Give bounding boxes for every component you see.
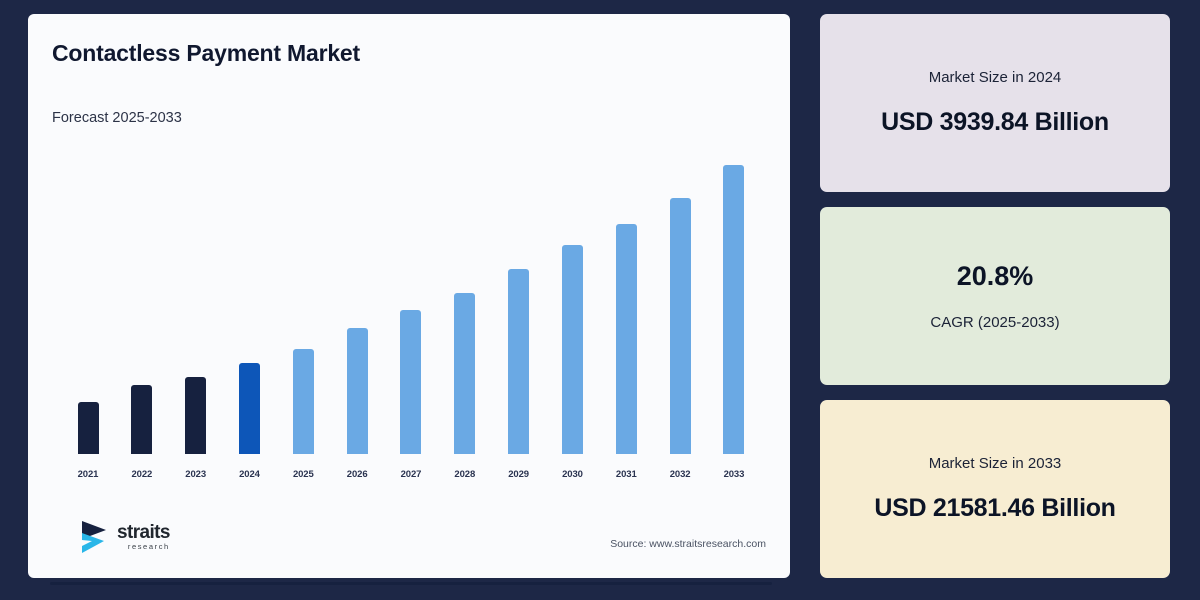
panel-subtitle: Forecast 2025-2033 [52,110,182,126]
x-tick-2033: 2033 [710,469,758,480]
bar-2030[interactable] [562,245,583,454]
x-tick-2022: 2022 [118,469,166,480]
bar-slot [172,146,220,454]
bar-slot [333,146,381,454]
logo-subtitle: research [117,543,170,551]
bar-2025[interactable] [293,349,314,454]
bar-slot [387,146,435,454]
bar-slot [710,146,758,454]
x-axis-line [50,582,772,585]
bar-slot [602,146,650,454]
bar-2027[interactable] [400,310,421,454]
stat-cards: Market Size in 2024USD 3939.84 Billion20… [820,14,1170,578]
bar-2032[interactable] [670,198,691,454]
logo-name: straits [117,523,170,542]
x-tick-2021: 2021 [64,469,112,480]
bar-2021[interactable] [78,402,99,454]
source-attribution: Source: www.straitsresearch.com [610,538,766,550]
bar-slot [225,146,273,454]
bar-2028[interactable] [454,293,475,454]
straits-arrow-logo-icon [80,519,110,555]
logo-wordmark: straits research [117,523,170,551]
bar-2023[interactable] [185,377,206,454]
card-label: Market Size in 2024 [929,69,1062,86]
bar-slot [279,146,327,454]
straits-research-logo: straits research [80,519,170,555]
card-value: 20.8% [957,261,1034,292]
x-tick-2032: 2032 [656,469,704,480]
bar-2026[interactable] [347,328,368,454]
x-tick-2025: 2025 [279,469,327,480]
bar-2029[interactable] [508,269,529,454]
bar-2024[interactable] [239,363,260,454]
bar-2031[interactable] [616,224,637,454]
bar-slot [441,146,489,454]
card-market-size-2033: Market Size in 2033USD 21581.46 Billion [820,400,1170,578]
bar-slot [548,146,596,454]
infographic-root: Contactless Payment Market Forecast 2025… [0,0,1200,600]
x-tick-2031: 2031 [602,469,650,480]
bar-slot [495,146,543,454]
card-label: Market Size in 2033 [929,455,1062,472]
card-market-size-2024: Market Size in 2024USD 3939.84 Billion [820,14,1170,192]
x-tick-2024: 2024 [225,469,273,480]
bar-2022[interactable] [131,385,152,454]
x-tick-2029: 2029 [495,469,543,480]
x-tick-2027: 2027 [387,469,435,480]
page-title: Contactless Payment Market [52,40,360,67]
x-tick-2028: 2028 [441,469,489,480]
card-value: USD 3939.84 Billion [881,108,1109,137]
bar-series [50,146,772,454]
bar-slot [656,146,704,454]
x-tick-2023: 2023 [172,469,220,480]
chart-panel: Contactless Payment Market Forecast 2025… [28,14,790,578]
card-cagr: 20.8%CAGR (2025-2033) [820,207,1170,385]
x-tick-2026: 2026 [333,469,381,480]
bar-slot [118,146,166,454]
card-value: USD 21581.46 Billion [874,494,1115,523]
x-tick-2030: 2030 [548,469,596,480]
bar-chart-plot [50,144,772,454]
bar-slot [64,146,112,454]
bar-2033[interactable] [723,165,744,454]
card-label: CAGR (2025-2033) [930,314,1059,331]
x-axis-labels: 2021202220232024202520262027202820292030… [50,469,772,480]
